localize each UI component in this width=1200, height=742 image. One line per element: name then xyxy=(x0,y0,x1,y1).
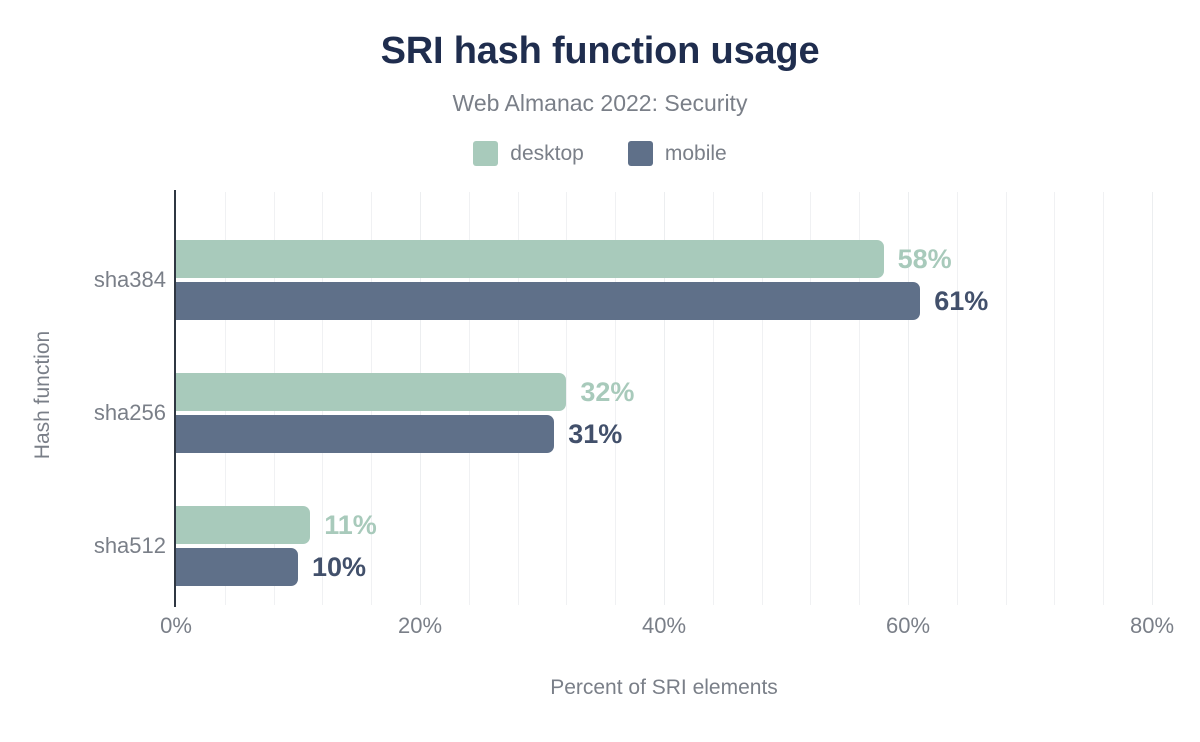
chart-subtitle: Web Almanac 2022: Security xyxy=(0,90,1200,117)
x-tick-label-40%: 40% xyxy=(604,613,724,639)
gridline-minor xyxy=(957,192,958,605)
x-tick-label-60%: 60% xyxy=(848,613,968,639)
gridline-minor xyxy=(1006,192,1007,605)
bar-mobile-sha256[interactable] xyxy=(176,415,554,453)
plot-area: 58%61%32%31%11%10% xyxy=(176,192,1152,605)
legend-label-desktop: desktop xyxy=(510,142,584,166)
x-tick-label-0%: 0% xyxy=(116,613,236,639)
bar-value-label-mobile-sha512: 10% xyxy=(312,548,366,586)
bar-mobile-sha512[interactable] xyxy=(176,548,298,586)
bar-desktop-sha384[interactable] xyxy=(176,240,884,278)
gridline-major xyxy=(1152,192,1153,605)
y-axis-title: Hash function xyxy=(31,295,55,495)
gridline-minor xyxy=(1103,192,1104,605)
bar-value-label-mobile-sha256: 31% xyxy=(568,415,622,453)
bar-desktop-sha512[interactable] xyxy=(176,506,310,544)
bar-mobile-sha384[interactable] xyxy=(176,282,920,320)
x-tick-label-80%: 80% xyxy=(1092,613,1200,639)
chart-figure: SRI hash function usage Web Almanac 2022… xyxy=(0,0,1200,742)
legend-item-desktop[interactable]: desktop xyxy=(473,141,584,166)
gridline-minor xyxy=(1054,192,1055,605)
bar-value-label-desktop-sha512: 11% xyxy=(324,506,377,544)
bar-value-label-mobile-sha384: 61% xyxy=(934,282,988,320)
chart-legend: desktop mobile xyxy=(0,141,1200,166)
chart-title: SRI hash function usage xyxy=(0,30,1200,73)
legend-swatch-mobile xyxy=(628,141,653,166)
bar-desktop-sha256[interactable] xyxy=(176,373,566,411)
bar-value-label-desktop-sha256: 32% xyxy=(580,373,634,411)
x-axis-title: Percent of SRI elements xyxy=(176,676,1152,700)
x-tick-label-20%: 20% xyxy=(360,613,480,639)
y-tick-label-sha512: sha512 xyxy=(16,533,166,559)
legend-item-mobile[interactable]: mobile xyxy=(628,141,727,166)
bar-value-label-desktop-sha384: 58% xyxy=(898,240,952,278)
legend-label-mobile: mobile xyxy=(665,142,727,166)
legend-swatch-desktop xyxy=(473,141,498,166)
y-tick-label-sha384: sha384 xyxy=(16,267,166,293)
